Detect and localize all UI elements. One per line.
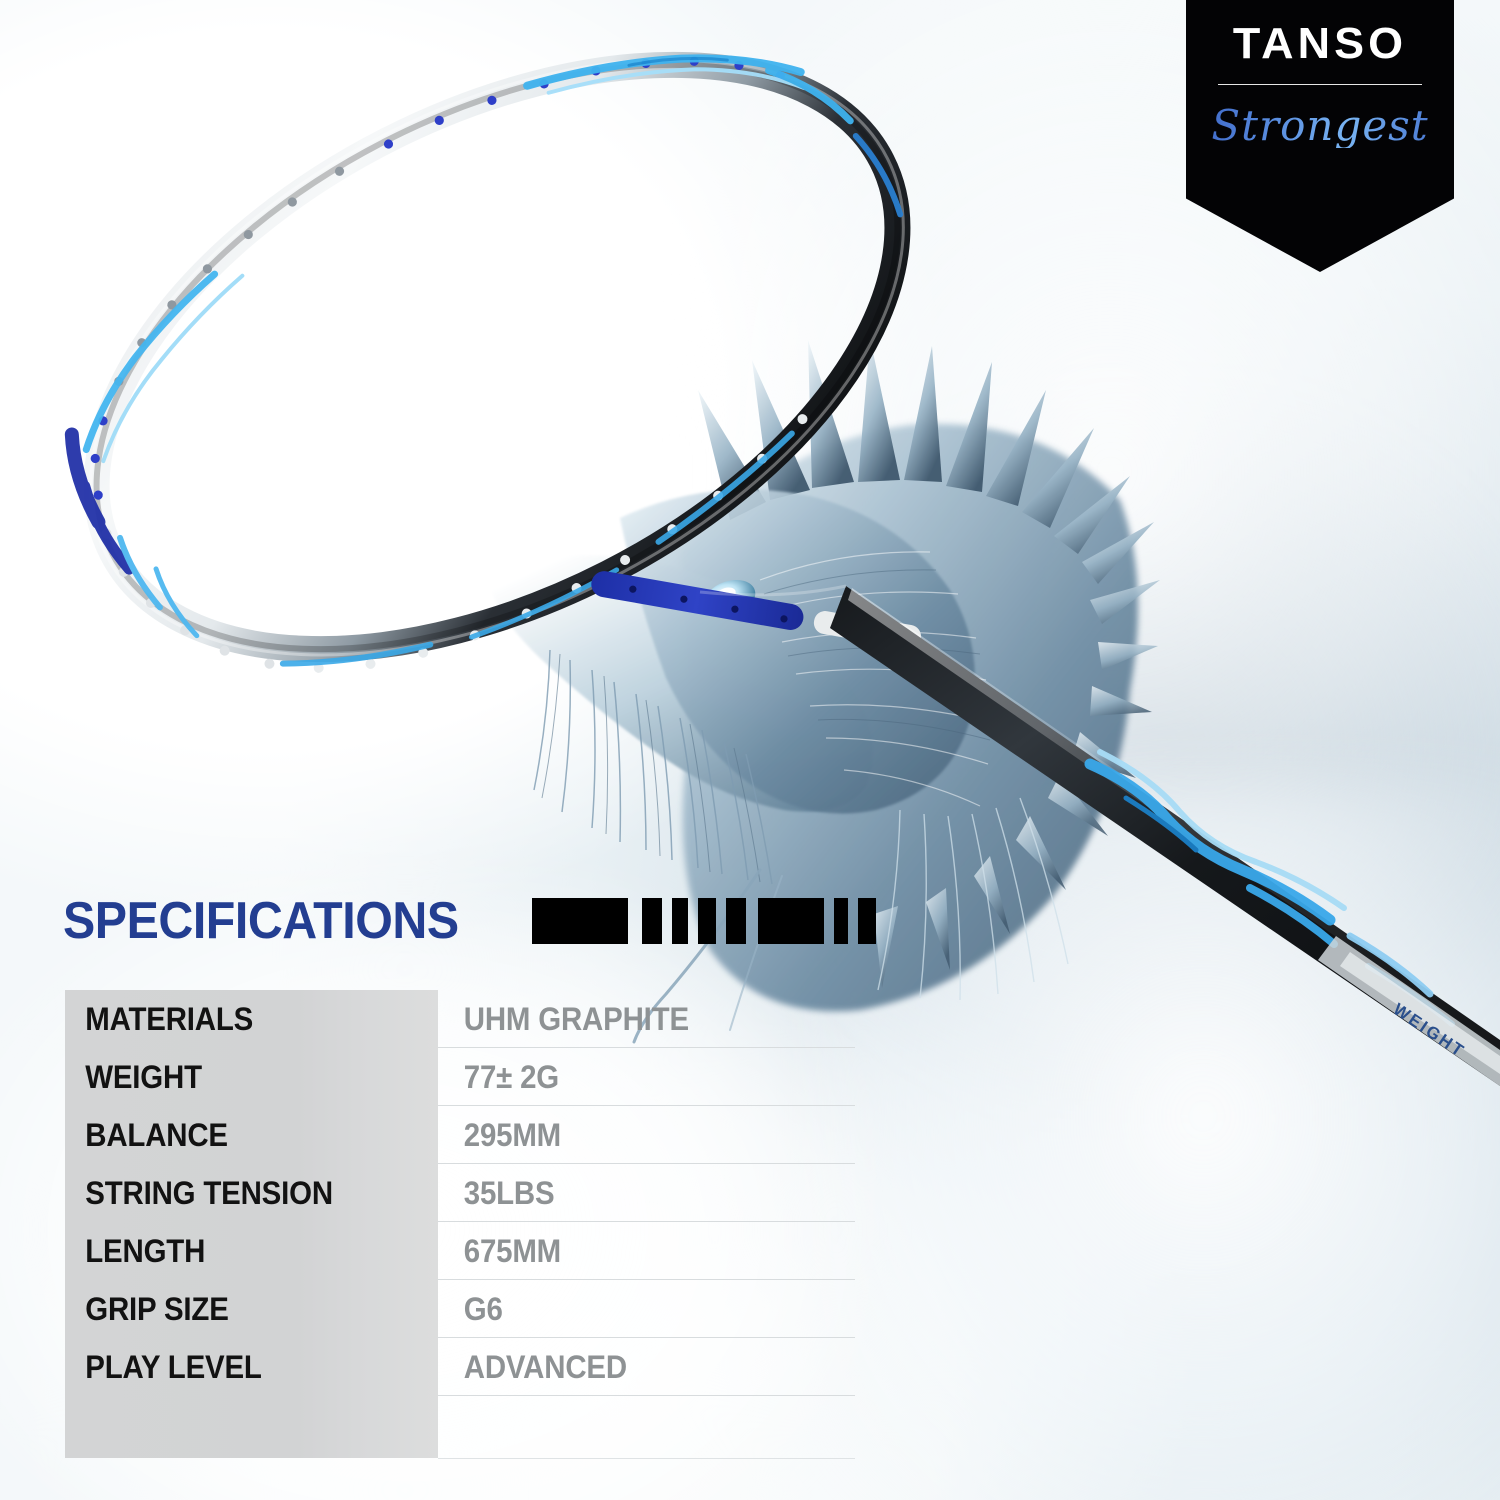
specifications-header: SPECIFICATIONS <box>63 888 923 954</box>
spec-row-rule <box>438 1395 855 1396</box>
spec-bar-4 <box>698 898 716 944</box>
spec-bar-8 <box>858 898 876 944</box>
brand-tagline: Strongest <box>1186 104 1454 148</box>
spec-value: 675MM <box>438 1233 822 1270</box>
spec-bar-6 <box>758 898 824 944</box>
spec-row: MATERIALSUHM GRAPHITE <box>65 990 855 1048</box>
spec-row: WEIGHT77± 2G <box>65 1048 855 1106</box>
spec-row: BALANCE295MM <box>65 1106 855 1164</box>
spec-label: BALANCE <box>65 1117 408 1154</box>
spec-bar-7 <box>834 898 848 944</box>
spec-value: UHM GRAPHITE <box>438 1001 822 1038</box>
spec-label: STRING TENSION <box>65 1175 408 1212</box>
spec-bar-2 <box>642 898 662 944</box>
spec-label: MATERIALS <box>65 1001 408 1038</box>
specifications-bottom-rule <box>438 1458 855 1459</box>
spec-row: LENGTH675MM <box>65 1222 855 1280</box>
spec-bar-1 <box>532 898 628 944</box>
specifications-title: SPECIFICATIONS <box>63 895 459 947</box>
spec-value: ADVANCED <box>438 1349 822 1386</box>
spec-row: GRIP SIZEG6 <box>65 1280 855 1338</box>
logo-divider <box>1218 84 1422 85</box>
background-mist-right <box>825 780 1500 1500</box>
spec-value: 295MM <box>438 1117 822 1154</box>
spec-value: G6 <box>438 1291 822 1328</box>
brand-name: TANSO <box>1186 22 1454 66</box>
spec-row: PLAY LEVELADVANCED <box>65 1338 855 1396</box>
spec-label: GRIP SIZE <box>65 1291 408 1328</box>
spec-row: STRING TENSION35LBS <box>65 1164 855 1222</box>
specifications-table: MATERIALSUHM GRAPHITEWEIGHT77± 2GBALANCE… <box>65 990 855 1460</box>
spec-label: PLAY LEVEL <box>65 1349 408 1386</box>
spec-label: WEIGHT <box>65 1059 408 1096</box>
spec-bar-5 <box>726 898 746 944</box>
spec-value: 35LBS <box>438 1175 822 1212</box>
product-poster: WEIGHT TANSO Strongest SPECIFICATIONS MA… <box>0 0 1500 1500</box>
spec-label: LENGTH <box>65 1233 408 1270</box>
spec-bar-3 <box>672 898 688 944</box>
spec-value: 77± 2G <box>438 1059 822 1096</box>
specifications-bar-graphic <box>532 898 876 944</box>
